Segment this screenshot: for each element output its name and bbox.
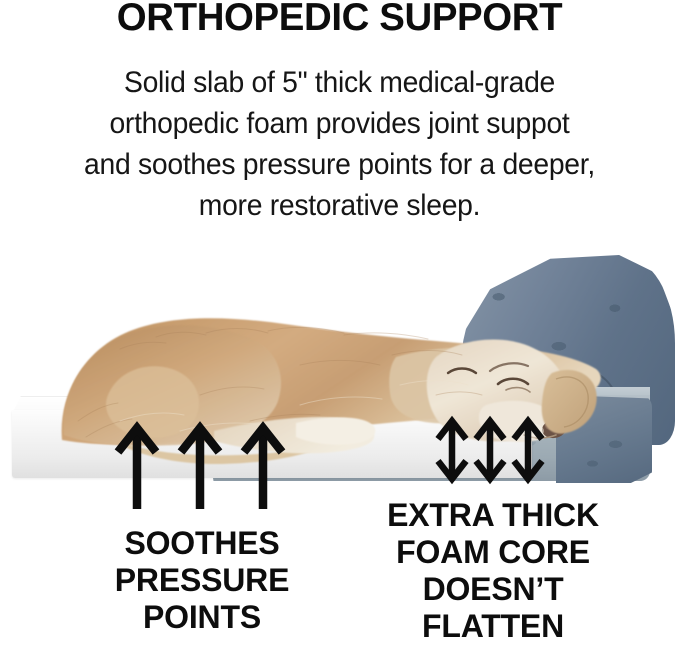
caption-right-line-2: FOAM CORE [348,534,638,571]
caption-left-line-1: SOOTHES [62,525,342,562]
caption-left-line-2: PRESSURE [62,562,342,599]
caption-left-line-3: POINTS [62,599,342,636]
caption-right-line-3: DOESN’T [348,571,638,608]
product-feature-graphic: ORTHOPEDIC SUPPORT Solid slab of 5" thic… [0,0,679,652]
caption-extra-thick-foam-core: EXTRA THICK FOAM CORE DOESN’T FLATTEN [348,497,638,645]
caption-right-line-4: FLATTEN [348,608,638,645]
caption-soothes-pressure-points: SOOTHES PRESSURE POINTS [62,525,342,636]
caption-right-line-1: EXTRA THICK [348,497,638,534]
